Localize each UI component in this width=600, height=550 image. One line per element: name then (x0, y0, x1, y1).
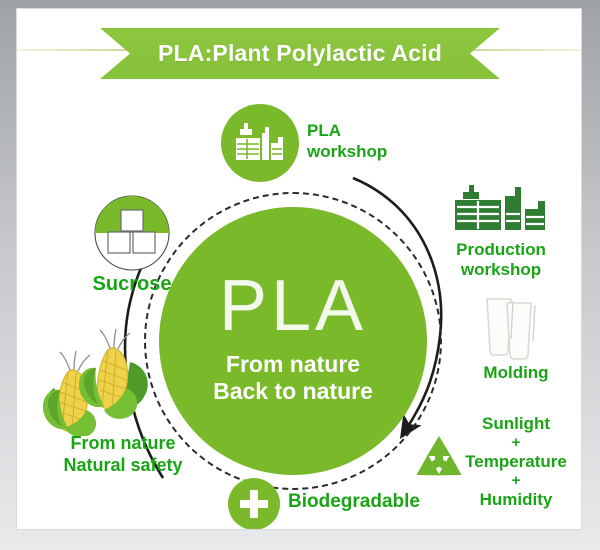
node-label-production-workshop: Production workshop (426, 240, 576, 280)
node-production-workshop: Production workshop (426, 184, 576, 280)
sugar-cubes-icon (93, 194, 171, 272)
from-nature-line2: Natural safety (28, 454, 218, 476)
pla-workshop-line1: PLA (307, 120, 387, 141)
corn-icon (34, 326, 174, 436)
production-workshop-line1: Production (426, 240, 576, 260)
cups-icon (477, 293, 555, 361)
image-frame: PLA:Plant Polylactic Acid PLA From natur… (0, 0, 600, 550)
center-acronym: PLA (219, 271, 367, 341)
cross-icon (228, 478, 280, 530)
node-from-nature: From nature Natural safety (28, 326, 218, 476)
production-workshop-line2: workshop (426, 260, 576, 280)
page-title: PLA:Plant Polylactic Acid (158, 40, 442, 67)
node-molding: Molding (456, 293, 576, 383)
watermark (466, 488, 566, 512)
env-sunlight: Sunlight (446, 413, 582, 435)
node-label-from-nature: From nature Natural safety (28, 432, 218, 476)
env-plus-1: + (446, 435, 582, 451)
node-label-molding: Molding (456, 363, 576, 383)
infographic-canvas: PLA:Plant Polylactic Acid PLA From natur… (16, 8, 582, 530)
env-plus-2: + (446, 473, 582, 489)
pla-workshop-line2: workshop (307, 141, 387, 162)
node-label-sucrose: Sucrose (64, 274, 200, 294)
env-temperature: Temperature (446, 451, 582, 473)
node-label-pla-workshop: PLA workshop (307, 120, 387, 162)
factory-icon (451, 184, 551, 236)
node-sucrose: Sucrose (64, 194, 200, 294)
factory-icon (221, 104, 299, 182)
center-tagline-line2: Back to nature (213, 378, 373, 405)
node-label-biodegradable: Biodegradable (288, 492, 420, 512)
center-tagline-line1: From nature (213, 351, 373, 378)
title-banner: PLA:Plant Polylactic Acid (100, 28, 500, 79)
